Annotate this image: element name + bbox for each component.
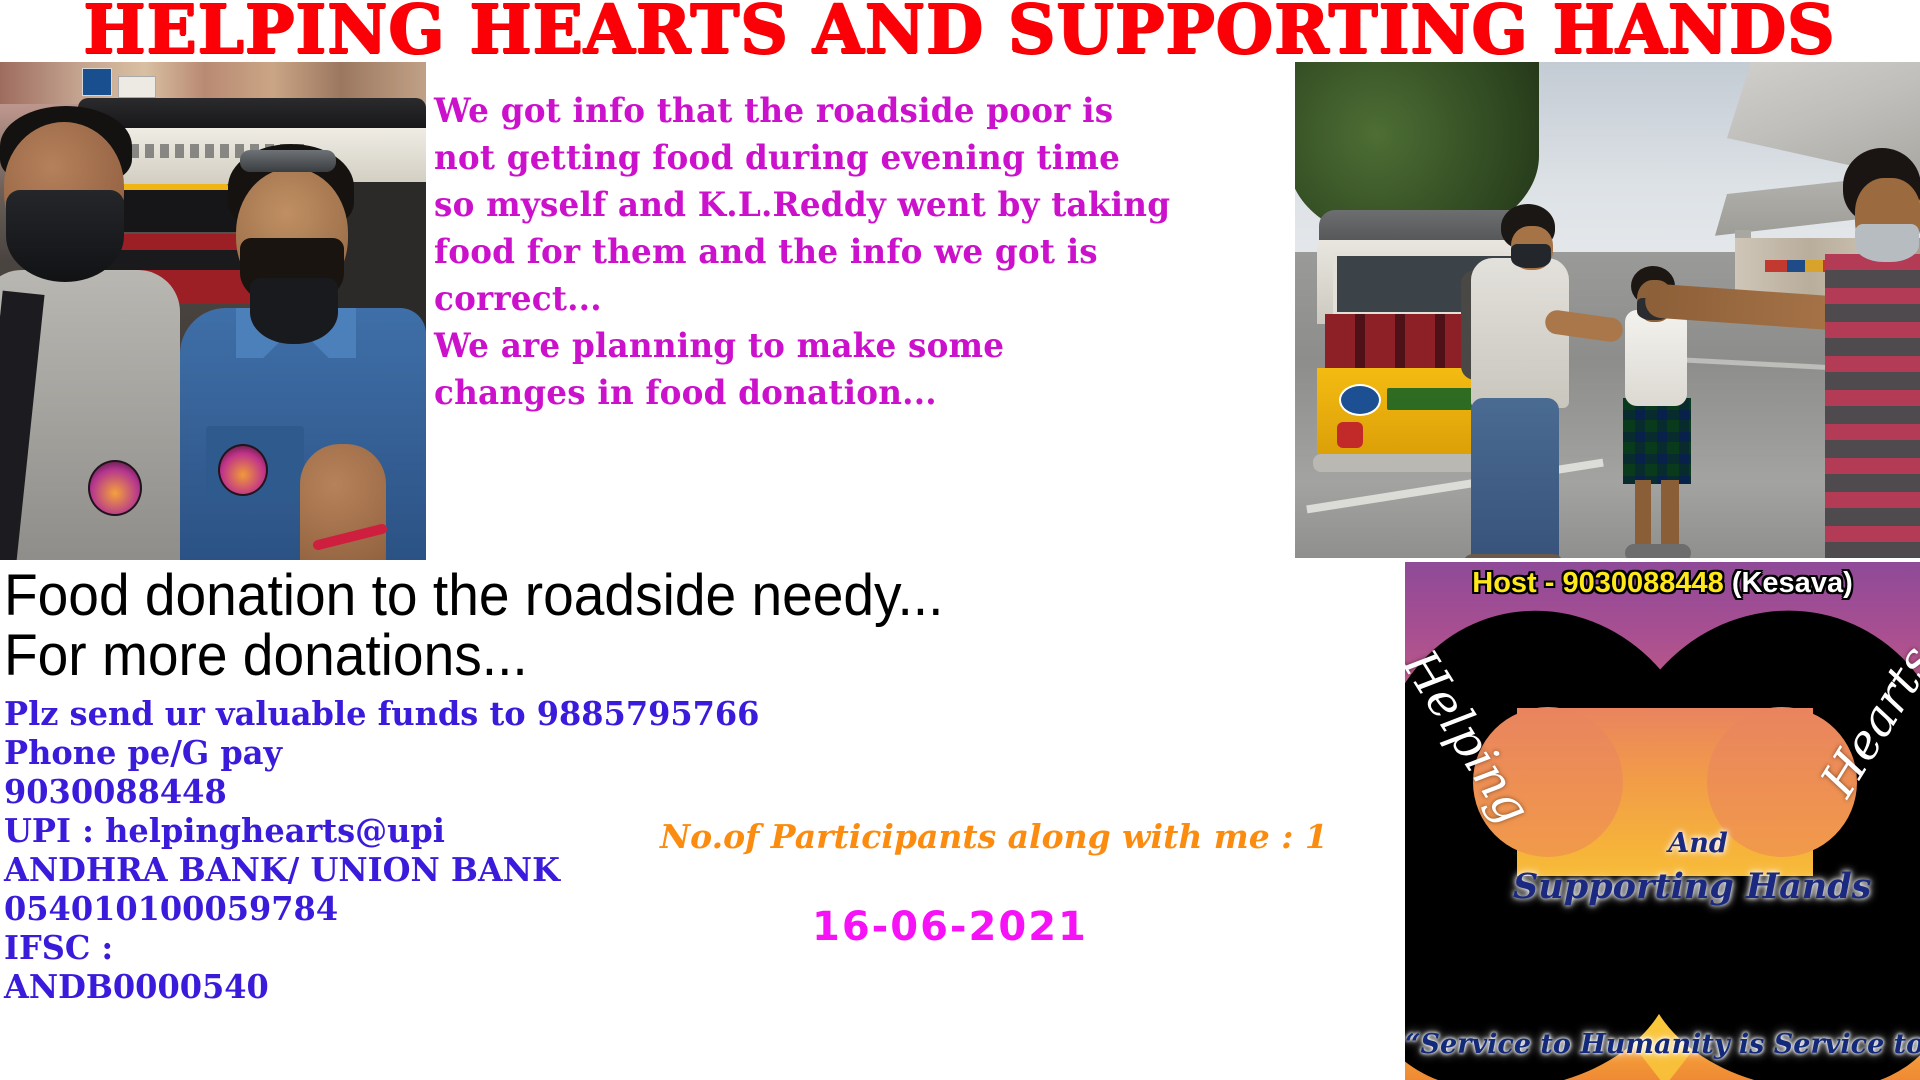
donation-funds-line: Plz send ur valuable funds to 9885795766 [4,694,702,733]
host-contact-label: Host - 9030088448 (Kesava) [1405,566,1920,600]
photo-left-man1-logo-badge [88,460,142,516]
photo-left-signboard-white [118,76,156,98]
participants-count-text: No.of Participants along with me : 1 [660,818,1360,856]
message-line: changes in food donation... [434,370,1240,417]
message-line: We got info that the roadside poor is [434,88,1240,135]
photo-right-man-striped-shirt [1825,254,1920,558]
photo-right-volunteer-facemask [1511,244,1551,268]
photo-left-man2-logo-badge [218,444,268,496]
logo-word-supporting-hands: Supporting Hands [1513,866,1823,907]
banner-title-text: HELPING HEARTS AND SUPPORTING HANDS [84,0,1836,60]
donation-ifsc-label: IFSC : [4,928,702,967]
photo-right-rickshaw-taillight [1337,422,1363,448]
photo-left-man2-facemask [250,278,338,344]
photo-food-donation-street [1295,62,1920,558]
photo-right-boy-lungi [1623,398,1691,484]
message-line: not getting food during evening time [434,135,1240,182]
donation-upi-id: UPI : helpinghearts@upi [4,811,702,850]
photo-right-boy-slippers [1625,544,1691,558]
donation-phone-number: 9030088448 [4,772,702,811]
event-date-text: 16-06-2021 [812,904,1212,950]
logo-tagline-text: “Service to Humanity is Service to God” [1405,1029,1920,1060]
photo-left-man2-sunglasses [240,150,336,172]
photo-volunteers-selfie [0,62,426,560]
photo-right-volunteer-sandals [1463,554,1563,558]
banner-title-bar: HELPING HEARTS AND SUPPORTING HANDS [0,0,1920,60]
photo-right-boy-shirt [1625,310,1687,406]
photo-right-man-facemask [1855,224,1919,262]
donation-phonepe-gpay-label: Phone pe/G pay [4,733,702,772]
organisation-logo-card: Host - 9030088448 (Kesava) Helping Heart… [1405,562,1920,1080]
headline-block: Food donation to the roadside needy... F… [4,566,1325,686]
message-line: so myself and K.L.Reddy went by taking [434,182,1240,229]
photo-left-signboard-blue [82,68,112,96]
donation-details-block: Plz send ur valuable funds to 9885795766… [4,694,702,1006]
poster-canvas: HELPING HEARTS AND SUPPORTING HANDS [0,0,1920,1080]
headline-line-1: Food donation to the roadside needy... [4,566,1325,626]
photo-left-man1-facemask [6,190,124,282]
photo-right-volunteer-jeans [1471,398,1559,558]
donation-bank-name: ANDHRA BANK/ UNION BANK [4,850,702,889]
host-number: Host - 9030088448 [1472,567,1724,599]
logo-word-and: And [1633,828,1763,859]
heart-hands-illustration: Helping Hearts And Supporting Hands [1405,596,1920,1080]
message-line: food for them and the info we got is [434,229,1240,276]
headline-line-2: For more donations... [4,626,1325,686]
donation-ifsc-code: ANDB0000540 [4,967,702,1006]
message-paragraph: We got info that the roadside poor is no… [434,88,1240,417]
photo-right-rickshaw-permit-badge [1339,384,1381,416]
host-name: (Kesava) [1732,567,1853,599]
message-line: correct... [434,276,1240,323]
donation-account-number: 054010100059784 [4,889,702,928]
message-line: We are planning to make some [434,323,1240,370]
